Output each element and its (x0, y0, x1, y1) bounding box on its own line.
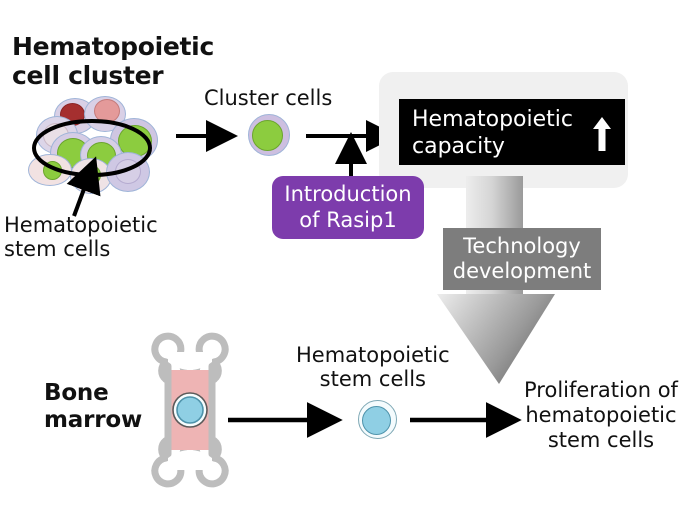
cluster-cell-icon (248, 114, 292, 158)
hematopoietic-capacity-label: Hematopoietic capacity (412, 107, 573, 161)
introduction-of-rasip1-label: Introduction of Rasip1 (284, 182, 411, 232)
page-title-bone-marrow: Bone marrow (44, 380, 142, 433)
introduction-of-rasip1-box[interactable]: Introduction of Rasip1 (272, 176, 424, 239)
label-hematopoietic-stem-cells-middle: Hematopoietic stem cells (296, 343, 450, 392)
increase-up-arrow-icon (593, 117, 611, 151)
arrow-cluster-to-cluster-cell (176, 125, 242, 147)
label-proliferation-of-hematopoietic-stem-cells: Proliferation of hematopoietic stem cell… (524, 378, 678, 452)
cell-nucleus-green (252, 120, 283, 151)
arrow-stem-cell-to-proliferation (410, 409, 528, 431)
bone-marrow-illustration (142, 348, 238, 472)
label-cluster-cells: Cluster cells (204, 86, 332, 110)
hsc-pointer-arrow (50, 148, 110, 218)
arrow-bone-to-stem-cell (228, 409, 346, 431)
stem-cell-nucleus-blue (362, 406, 391, 435)
label-hematopoietic-stem-cells-left: Hematopoietic stem cells (4, 213, 158, 262)
technology-development-label-box: Technology development (443, 228, 601, 290)
hematopoietic-capacity-box: Hematopoietic capacity (399, 99, 625, 165)
technology-development-label: Technology development (453, 234, 592, 284)
page-title-hematopoietic-cell-cluster: Hematopoietic cell cluster (12, 32, 214, 90)
diagram-canvas: Hematopoietic cell cluster Hematopoietic… (0, 0, 700, 525)
arrow-rasip1-to-capacity (338, 128, 364, 180)
hematopoietic-stem-cell-icon (358, 400, 398, 440)
